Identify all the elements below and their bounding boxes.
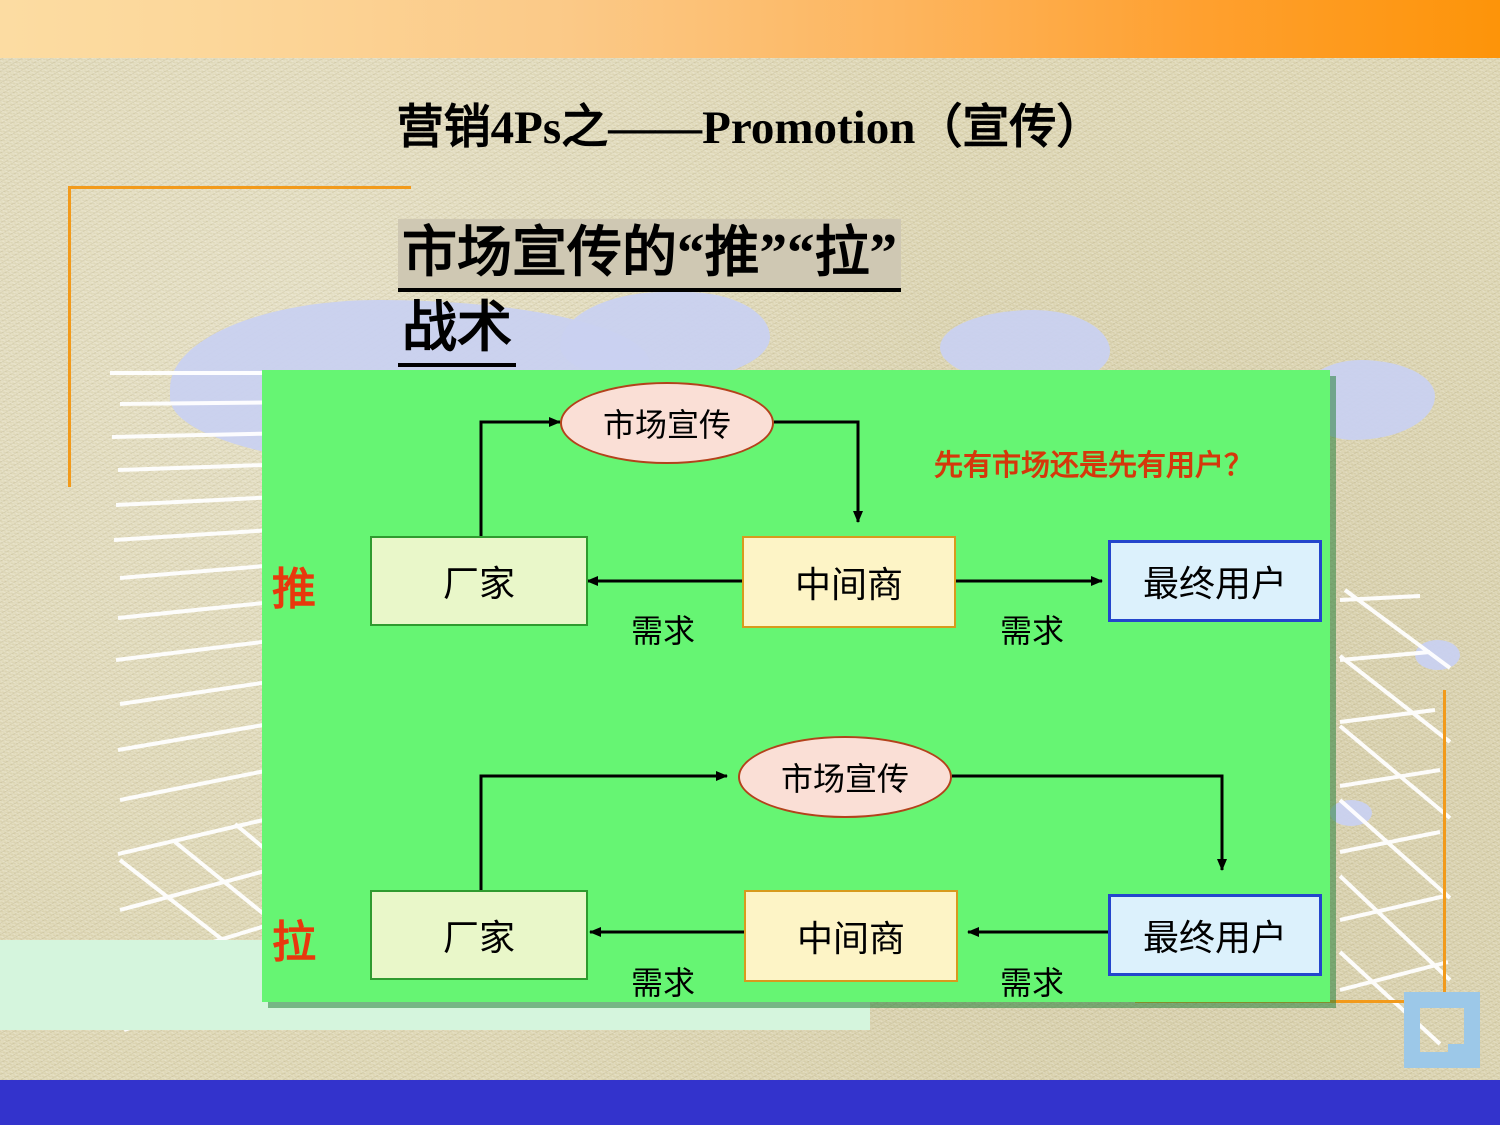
row-label-push: 推 xyxy=(272,553,316,617)
blue-square-frame-icon xyxy=(1404,992,1480,1068)
promo-ellipse-pull: 市场宣传 xyxy=(738,736,952,818)
map-shape-icon xyxy=(1415,640,1460,670)
slide-canvas: 营销4Ps之——Promotion（宣传） 市场宣传的“推”“拉” 战术 xyxy=(0,0,1500,1125)
diagram-panel: 推 先有市场还是先有用户？ 市场宣传 厂家 中间商 最终用户 需求 需求 拉 市… xyxy=(262,370,1330,1002)
node-dealer-push: 中间商 xyxy=(742,536,956,628)
bottom-blue-bar xyxy=(0,1080,1500,1125)
node-maker-push: 厂家 xyxy=(370,536,588,626)
edge-label-demand-pull-1: 需求 xyxy=(631,958,695,1004)
promo-ellipse-push: 市场宣传 xyxy=(560,382,774,464)
node-dealer-pull: 中间商 xyxy=(744,890,958,982)
subtitle-line-2: 战术 xyxy=(398,294,516,367)
edge-label-demand-push-2: 需求 xyxy=(1000,606,1064,652)
subtitle-block: 市场宣传的“推”“拉” 战术 xyxy=(392,215,1162,367)
top-gradient-bar xyxy=(0,0,1500,58)
node-user-push: 最终用户 xyxy=(1108,540,1322,622)
node-maker-pull: 厂家 xyxy=(370,890,588,980)
subtitle-line-1: 市场宣传的“推”“拉” xyxy=(398,219,901,292)
edge-label-demand-pull-2: 需求 xyxy=(1000,958,1064,1004)
edge-label-demand-push-1: 需求 xyxy=(631,606,695,652)
node-user-pull: 最终用户 xyxy=(1108,894,1322,976)
page-title: 营销4Ps之——Promotion（宣传） xyxy=(0,88,1500,157)
question-text: 先有市场还是先有用户？ xyxy=(934,442,1253,484)
row-label-pull: 拉 xyxy=(272,906,316,970)
